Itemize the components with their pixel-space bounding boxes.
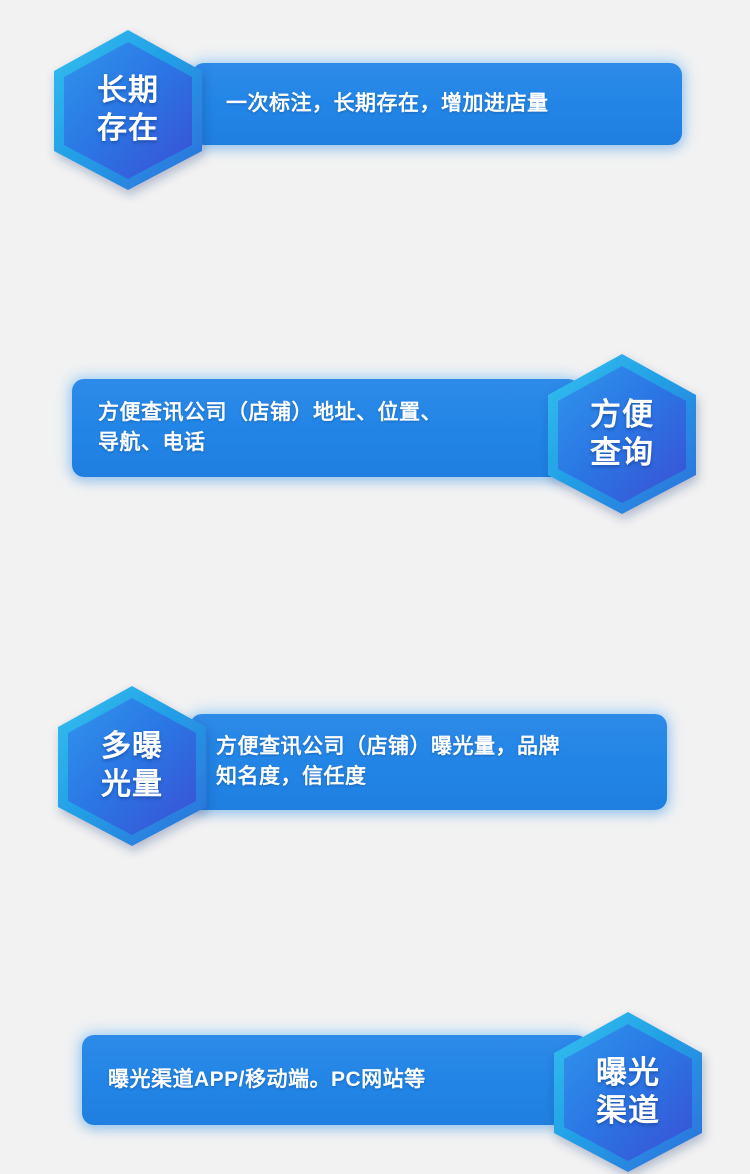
feature-row-3: 方便查讯公司（店铺）曝光量，品牌 知名度，信任度 (0, 340, 750, 512)
feature-description-text-4: 曝光渠道APP/移动端。PC网站等 (108, 1065, 426, 1095)
feature-badge-hexagon-1: 长期 存在 (52, 28, 204, 192)
feature-description-bar-3: 方便查讯公司（店铺）曝光量，品牌 知名度，信任度 (190, 714, 667, 810)
feature-description-bar-4: 曝光渠道APP/移动端。PC网站等 (82, 1035, 588, 1125)
feature-row-4: 曝光渠道APP/移动端。PC网站等 (0, 504, 750, 666)
feature-description-bar-1: 一次标注，长期存在，增加进店量 (192, 63, 682, 145)
hexagon-shape-icon (56, 684, 208, 848)
feature-description-text-3: 方便查讯公司（店铺）曝光量，品牌 知名度，信任度 (216, 732, 560, 792)
hexagon-shape-icon (52, 28, 204, 192)
feature-badge-hexagon-4: 曝光 渠道 (552, 1010, 704, 1174)
feature-list-infographic: 一次标注，长期存在，增加进店量 (0, 0, 750, 673)
feature-row-1: 一次标注，长期存在，增加进店量 (0, 14, 750, 184)
feature-description-text-1: 一次标注，长期存在，增加进店量 (226, 89, 549, 119)
feature-badge-hexagon-3: 多曝 光量 (56, 684, 208, 848)
hexagon-shape-icon (552, 1010, 704, 1174)
feature-row-2: 方便查讯公司（店铺）地址、位置、 导航、电话 (0, 176, 750, 346)
